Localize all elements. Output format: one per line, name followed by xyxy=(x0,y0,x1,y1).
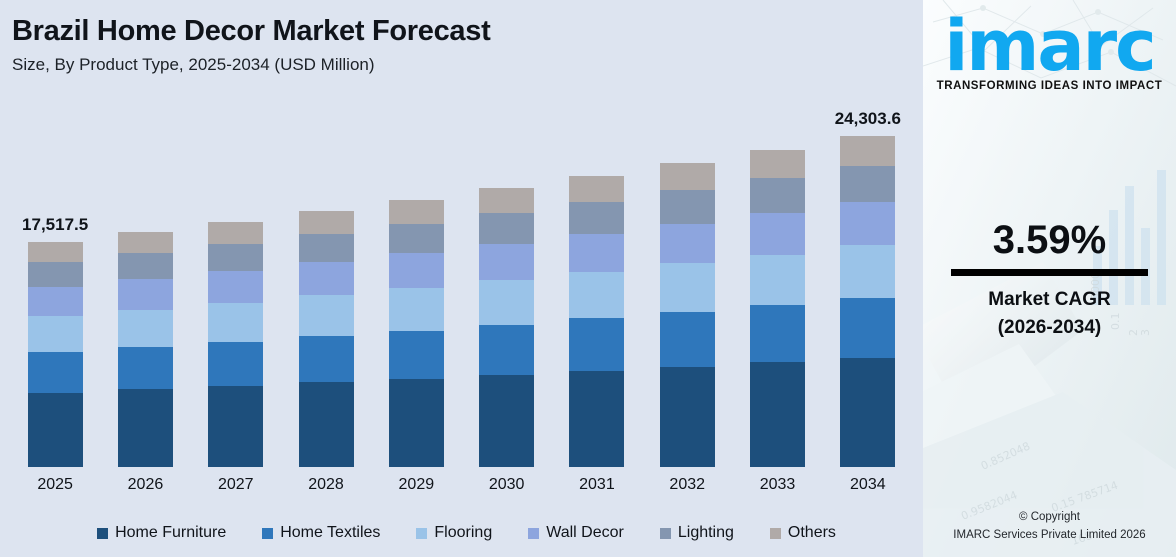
bar-segment[interactable] xyxy=(28,287,83,316)
legend-swatch-icon xyxy=(97,528,108,539)
bar-segment[interactable] xyxy=(389,253,444,288)
bar-stack[interactable] xyxy=(208,222,263,467)
bar-segment[interactable] xyxy=(569,371,624,467)
bar-column xyxy=(281,110,371,467)
legend-label: Home Textiles xyxy=(280,524,380,542)
x-axis-tick-label: 2030 xyxy=(461,467,551,503)
bar-segment[interactable] xyxy=(479,280,534,325)
legend-item[interactable]: Home Furniture xyxy=(97,524,226,542)
bar-segment[interactable] xyxy=(479,188,534,213)
legend-swatch-icon xyxy=(660,528,671,539)
bar-segment[interactable] xyxy=(299,234,354,262)
bar-column: 17,517.5 xyxy=(10,110,100,467)
bar-stack[interactable] xyxy=(118,232,173,467)
bar-segment[interactable] xyxy=(208,342,263,386)
bar-segment[interactable] xyxy=(660,190,715,223)
plot-area: 17,517.524,303.6 xyxy=(0,110,923,467)
x-axis-tick-label: 2034 xyxy=(823,467,913,503)
bar-segment[interactable] xyxy=(299,262,354,295)
bar-segment[interactable] xyxy=(569,272,624,319)
bar-stack[interactable] xyxy=(750,150,805,467)
bar-stack[interactable]: 24,303.6 xyxy=(840,136,895,467)
bar-segment[interactable] xyxy=(660,263,715,312)
bar-segment[interactable] xyxy=(750,305,805,362)
bar-segment[interactable] xyxy=(479,213,534,244)
bar-segment[interactable] xyxy=(569,234,624,272)
bar-segment[interactable] xyxy=(299,336,354,382)
bar-stack[interactable] xyxy=(389,200,444,467)
x-axis-tick-label: 2033 xyxy=(732,467,822,503)
bar-segment[interactable] xyxy=(660,163,715,190)
bar-segment[interactable] xyxy=(840,298,895,358)
bar-segment[interactable] xyxy=(840,358,895,467)
chart-panel: Brazil Home Decor Market Forecast Size, … xyxy=(0,0,923,557)
bar-stack[interactable] xyxy=(299,211,354,467)
bar-value-label: 24,303.6 xyxy=(835,109,901,129)
bar-column xyxy=(552,110,642,467)
legend-item[interactable]: Home Textiles xyxy=(262,524,380,542)
bar-segment[interactable] xyxy=(750,362,805,467)
bar-segment[interactable] xyxy=(479,244,534,280)
bar-segment[interactable] xyxy=(28,316,83,352)
legend-label: Others xyxy=(788,524,836,542)
bar-segment[interactable] xyxy=(479,375,534,467)
bar-stack[interactable]: 17,517.5 xyxy=(28,242,83,467)
bar-segment[interactable] xyxy=(208,244,263,271)
bar-segment[interactable] xyxy=(28,393,83,467)
bar-segment[interactable] xyxy=(840,202,895,245)
bar-segment[interactable] xyxy=(118,310,173,348)
legend-swatch-icon xyxy=(262,528,273,539)
title-block: Brazil Home Decor Market Forecast Size, … xyxy=(12,16,490,75)
legend-item[interactable]: Others xyxy=(770,524,836,542)
bar-segment[interactable] xyxy=(118,389,173,467)
x-axis-tick-label: 2029 xyxy=(371,467,461,503)
bar-series-container: 17,517.524,303.6 xyxy=(10,110,913,467)
copyright-line-2: IMARC Services Private Limited 2026 xyxy=(923,527,1176,545)
bar-segment[interactable] xyxy=(299,295,354,336)
bar-segment[interactable] xyxy=(299,211,354,234)
bar-segment[interactable] xyxy=(660,224,715,264)
bar-segment[interactable] xyxy=(118,279,173,310)
bar-segment[interactable] xyxy=(750,150,805,179)
x-axis-tick-label: 2028 xyxy=(281,467,371,503)
cagr-label: Market CAGR xyxy=(923,286,1176,314)
brand-content: imarc TRANSFORMING IDEAS INTO IMPACT 3.5… xyxy=(923,0,1176,557)
bar-column xyxy=(371,110,461,467)
brand-panel: 5000 0.1 2 3 0.852048 0.9582044 0.15 785… xyxy=(923,0,1176,557)
bar-segment[interactable] xyxy=(479,325,534,375)
bar-segment[interactable] xyxy=(208,222,263,244)
legend-label: Lighting xyxy=(678,524,734,542)
bar-segment[interactable] xyxy=(569,176,624,202)
bar-column xyxy=(100,110,190,467)
bar-segment[interactable] xyxy=(118,232,173,253)
bar-segment[interactable] xyxy=(660,367,715,467)
x-axis-tick-label: 2032 xyxy=(642,467,732,503)
legend-swatch-icon xyxy=(528,528,539,539)
copyright-block: © Copyright IMARC Services Private Limit… xyxy=(923,509,1176,545)
bar-segment[interactable] xyxy=(389,379,444,467)
bar-segment[interactable] xyxy=(750,178,805,213)
bar-segment[interactable] xyxy=(28,262,83,287)
bar-stack[interactable] xyxy=(660,163,715,467)
x-axis: 2025202620272028202920302031203220332034 xyxy=(10,467,913,503)
bar-segment[interactable] xyxy=(299,382,354,467)
bar-segment[interactable] xyxy=(750,213,805,254)
bar-segment[interactable] xyxy=(840,166,895,202)
legend-item[interactable]: Lighting xyxy=(660,524,734,542)
legend-label: Wall Decor xyxy=(546,524,624,542)
bar-segment[interactable] xyxy=(208,271,263,303)
x-axis-tick-label: 2026 xyxy=(100,467,190,503)
chart-legend: Home FurnitureHome TextilesFlooringWall … xyxy=(0,512,923,554)
legend-swatch-icon xyxy=(770,528,781,539)
bar-segment[interactable] xyxy=(208,303,263,342)
cagr-callout: 3.59% Market CAGR (2026-2034) xyxy=(923,218,1176,341)
bar-column xyxy=(191,110,281,467)
x-axis-tick-label: 2031 xyxy=(552,467,642,503)
bar-segment[interactable] xyxy=(840,245,895,298)
legend-item[interactable]: Wall Decor xyxy=(528,524,624,542)
bar-segment[interactable] xyxy=(389,331,444,379)
bar-segment[interactable] xyxy=(28,242,83,262)
bar-value-label: 17,517.5 xyxy=(22,215,88,235)
cagr-divider xyxy=(951,269,1148,276)
logo-wordmark: imarc xyxy=(923,14,1176,78)
bar-segment[interactable] xyxy=(118,253,173,279)
imarc-logo: imarc TRANSFORMING IDEAS INTO IMPACT xyxy=(923,14,1176,92)
legend-label: Home Furniture xyxy=(115,524,226,542)
x-axis-tick-label: 2027 xyxy=(191,467,281,503)
bar-segment[interactable] xyxy=(389,288,444,331)
page-title: Brazil Home Decor Market Forecast xyxy=(12,16,490,48)
cagr-period: (2026-2034) xyxy=(923,314,1176,342)
page-subtitle: Size, By Product Type, 2025-2034 (USD Mi… xyxy=(12,56,490,75)
bar-column: 24,303.6 xyxy=(823,110,913,467)
bar-segment[interactable] xyxy=(840,136,895,166)
logo-tagline: TRANSFORMING IDEAS INTO IMPACT xyxy=(923,80,1176,92)
bar-column xyxy=(461,110,551,467)
bar-stack[interactable] xyxy=(569,176,624,467)
bar-segment[interactable] xyxy=(208,386,263,467)
chart-infographic: Brazil Home Decor Market Forecast Size, … xyxy=(0,0,1176,557)
bar-column xyxy=(642,110,732,467)
bar-segment[interactable] xyxy=(389,200,444,224)
x-axis-tick-label: 2025 xyxy=(10,467,100,503)
bar-segment[interactable] xyxy=(28,352,83,393)
legend-label: Flooring xyxy=(434,524,492,542)
legend-swatch-icon xyxy=(416,528,427,539)
legend-item[interactable]: Flooring xyxy=(416,524,492,542)
cagr-value: 3.59% xyxy=(923,218,1176,262)
bar-column xyxy=(732,110,822,467)
bar-segment[interactable] xyxy=(569,202,624,234)
bar-segment[interactable] xyxy=(389,224,444,253)
bar-segment[interactable] xyxy=(118,347,173,389)
bar-stack[interactable] xyxy=(479,188,534,467)
bar-segment[interactable] xyxy=(569,318,624,370)
bar-segment[interactable] xyxy=(660,312,715,367)
bar-segment[interactable] xyxy=(750,255,805,306)
copyright-line-1: © Copyright xyxy=(923,509,1176,527)
